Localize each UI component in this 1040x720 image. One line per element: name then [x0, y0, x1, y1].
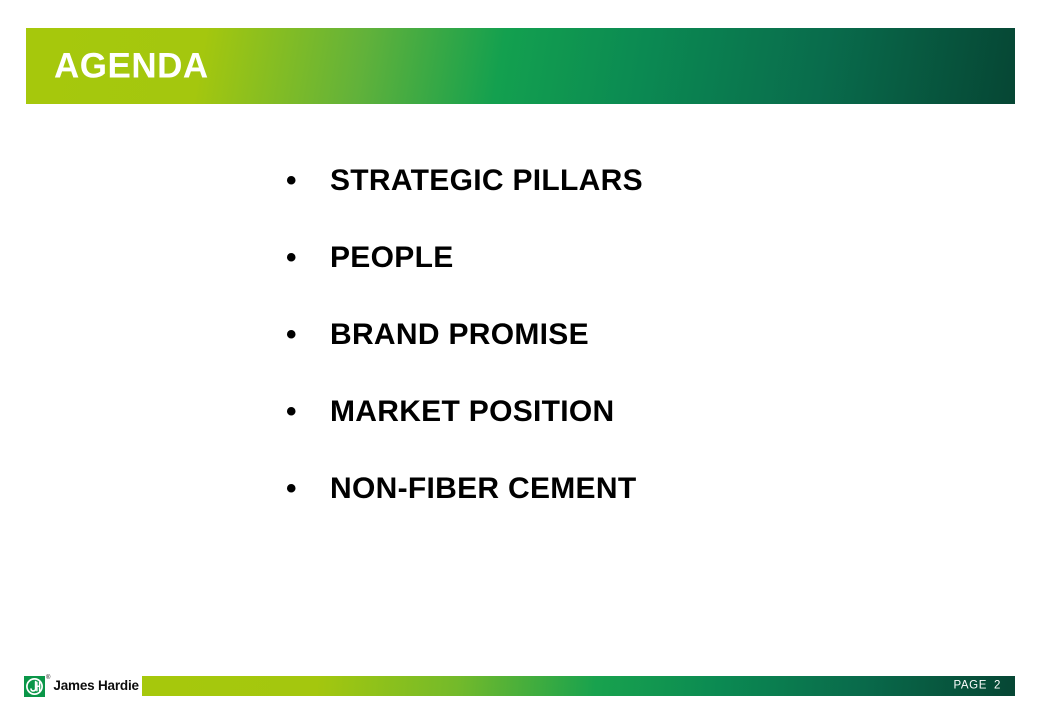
page-number-label: PAGE2 — [953, 680, 1001, 692]
list-item: • MARKET POSITION — [286, 397, 986, 474]
bullet-icon: • — [286, 320, 330, 350]
slide-header-band: AGENDA — [26, 28, 1015, 104]
registered-trademark-symbol: ® — [46, 675, 50, 681]
bullet-icon: • — [286, 166, 330, 196]
bullet-icon: • — [286, 397, 330, 427]
bullet-icon: • — [286, 474, 330, 504]
agenda-bullet-list: • STRATEGIC PILLARS • PEOPLE • BRAND PRO… — [286, 166, 986, 551]
slide-footer: ® James Hardie PAGE2 — [0, 670, 1040, 704]
list-item: • STRATEGIC PILLARS — [286, 166, 986, 243]
bullet-icon: • — [286, 243, 330, 273]
agenda-item-brand-promise: BRAND PROMISE — [330, 320, 589, 350]
brand-logo: ® James Hardie — [24, 674, 139, 698]
agenda-item-strategic-pillars: STRATEGIC PILLARS — [330, 166, 643, 196]
page-number: 2 — [994, 679, 1001, 691]
agenda-item-market-position: MARKET POSITION — [330, 397, 615, 427]
agenda-item-non-fiber-cement: NON-FIBER CEMENT — [330, 474, 636, 504]
list-item: • NON-FIBER CEMENT — [286, 474, 986, 551]
list-item: • BRAND PROMISE — [286, 320, 986, 397]
page-title: AGENDA — [54, 49, 209, 84]
footer-gradient-bar: PAGE2 — [142, 676, 1015, 696]
page-word: PAGE — [953, 679, 987, 691]
agenda-item-people: PEOPLE — [330, 243, 454, 273]
list-item: • PEOPLE — [286, 243, 986, 320]
james-hardie-logo-icon — [24, 676, 45, 697]
brand-name-label: James Hardie — [53, 679, 138, 693]
presentation-slide: AGENDA • STRATEGIC PILLARS • PEOPLE • BR… — [0, 0, 1040, 720]
